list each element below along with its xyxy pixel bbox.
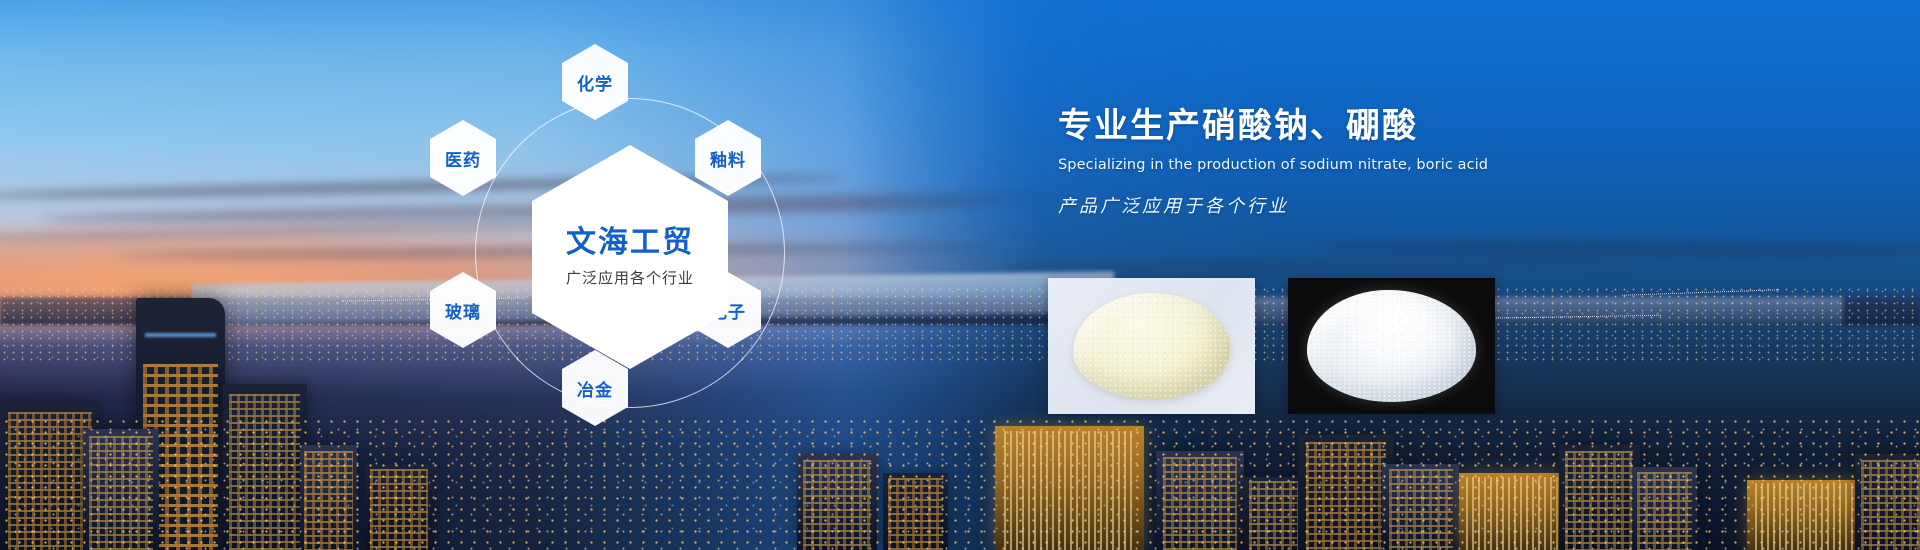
product-photo-sodium-nitrate[interactable] [1048,278,1255,414]
powder-heap [1073,293,1230,399]
powder-grain-texture [1307,290,1477,402]
hex-node-label: 化学 [577,70,613,95]
product-photo-boric-acid[interactable] [1288,278,1495,414]
product-photo-row [1048,278,1495,414]
city-light-speckles [0,416,1920,550]
promo-banner: 化学 釉料 电子 冶金 玻璃 医药 文海工贸 广泛应用各个行业 专业生产硝酸钠、… [0,0,1920,550]
hex-node-label: 釉料 [710,146,746,171]
hex-node-label: 玻璃 [445,298,481,323]
company-name: 文海工贸 [566,226,694,259]
powder-heap [1307,290,1477,402]
company-tagline: 广泛应用各个行业 [566,267,694,288]
industry-hex-diagram: 化学 釉料 电子 冶金 玻璃 医药 文海工贸 广泛应用各个行业 [430,28,830,478]
hex-node-medicine[interactable]: 医药 [430,120,496,196]
banner-subheadline-en: Specializing in the production of sodium… [1058,157,1618,173]
powder-grain-texture [1073,293,1230,399]
banner-slogan: 产品广泛应用于各个行业 [1058,192,1618,218]
hex-node-label: 冶金 [577,376,613,401]
hex-node-label: 医药 [445,146,481,171]
banner-headline: 专业生产硝酸钠、硼酸 [1058,105,1618,148]
banner-copy: 专业生产硝酸钠、硼酸 Specializing in the productio… [1058,105,1618,218]
city-skyline [0,231,1920,550]
